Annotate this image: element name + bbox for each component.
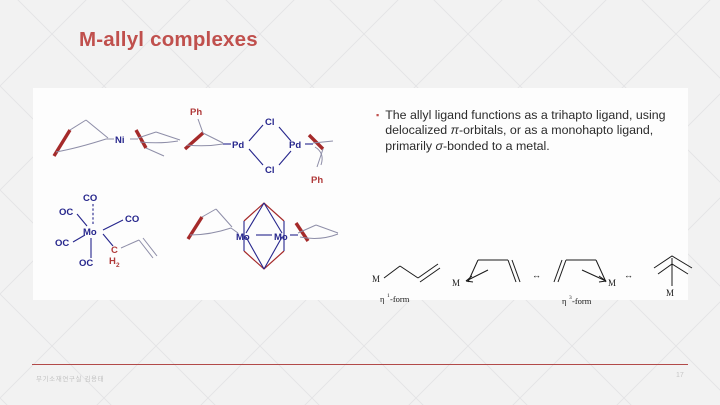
structure-eta3-form-a: M: [452, 260, 520, 288]
bullet-seg-pi: π: [451, 123, 459, 137]
bridge-label-cl-top: Cl: [265, 117, 275, 128]
bullet-text: The allyl ligand functions as a trihapto…: [385, 108, 696, 154]
caption-eta3-tail: -form: [572, 296, 592, 306]
bullet-seg-3: -bonded to a metal.: [443, 139, 550, 153]
page-title: M-allyl complexes: [79, 28, 258, 52]
ligand-label-co-top: CO: [83, 193, 97, 204]
metal-label-eta3-b: M: [608, 278, 616, 288]
metal-label-mo: Mo: [83, 227, 97, 238]
footer-affiliation: 무기소재연구실 김용태: [36, 373, 104, 383]
structure-mo-dimer: Mo Mo: [186, 193, 342, 279]
structure-ni-complex: Ni: [52, 108, 184, 170]
substituent-label-ph-right: Ph: [311, 175, 323, 186]
slide-canvas: M-allyl complexes Ni Ph: [0, 0, 720, 405]
structure-pd-dimer: Ph Pd Cl Cl Pd Ph: [183, 103, 335, 193]
ligand-label-oc-lower-left: OC: [55, 238, 69, 249]
metal-label-eta3-a: M: [452, 278, 460, 288]
bullet-seg-sigma: σ: [435, 139, 442, 153]
metal-label-pd-left: Pd: [232, 140, 244, 151]
structure-eta3-form-delocalized: M: [654, 256, 692, 298]
caption-eta1-tail: -form: [390, 294, 410, 304]
metal-label-ni: Ni: [115, 135, 125, 146]
allyl-carbon-h-count: 2: [116, 262, 120, 269]
bullet-list: ▪ The allyl ligand functions as a trihap…: [376, 108, 696, 154]
resonance-arrow-2: ↔: [624, 270, 633, 280]
structure-eta3-form-b: M η 3 -form: [554, 260, 616, 306]
metal-label-eta3-c: M: [666, 288, 674, 298]
caption-eta3-base: η: [562, 296, 566, 306]
ligand-label-co-right: CO: [125, 214, 139, 225]
bullet-marker: ▪: [376, 108, 379, 123]
metal-label-mo-right: Mo: [274, 232, 288, 243]
page-number: 17: [676, 372, 684, 379]
footer-divider: [32, 364, 688, 365]
substituent-label-ph-left: Ph: [190, 107, 202, 118]
allyl-carbon-h-label: H: [109, 256, 116, 267]
resonance-arrow-1: ↔: [532, 270, 541, 280]
structure-eta1-form: M η 1 -form: [372, 264, 440, 304]
hapticity-diagram: M η 1 -form M ↔: [366, 252, 706, 310]
ligand-label-oc-upper-left: OC: [59, 207, 73, 218]
bullet-item: ▪ The allyl ligand functions as a trihap…: [376, 108, 696, 154]
caption-eta1-base: η: [380, 294, 384, 304]
metal-label-pd-right: Pd: [289, 140, 301, 151]
ligand-label-oc-bottom: OC: [79, 258, 93, 269]
allyl-carbon-label: C: [111, 245, 118, 256]
metal-label-eta1: M: [372, 274, 380, 284]
structure-mo-carbonyl: CO OC CO OC OC Mo C H 2: [53, 188, 173, 280]
bridge-label-cl-bottom: Cl: [265, 165, 275, 176]
